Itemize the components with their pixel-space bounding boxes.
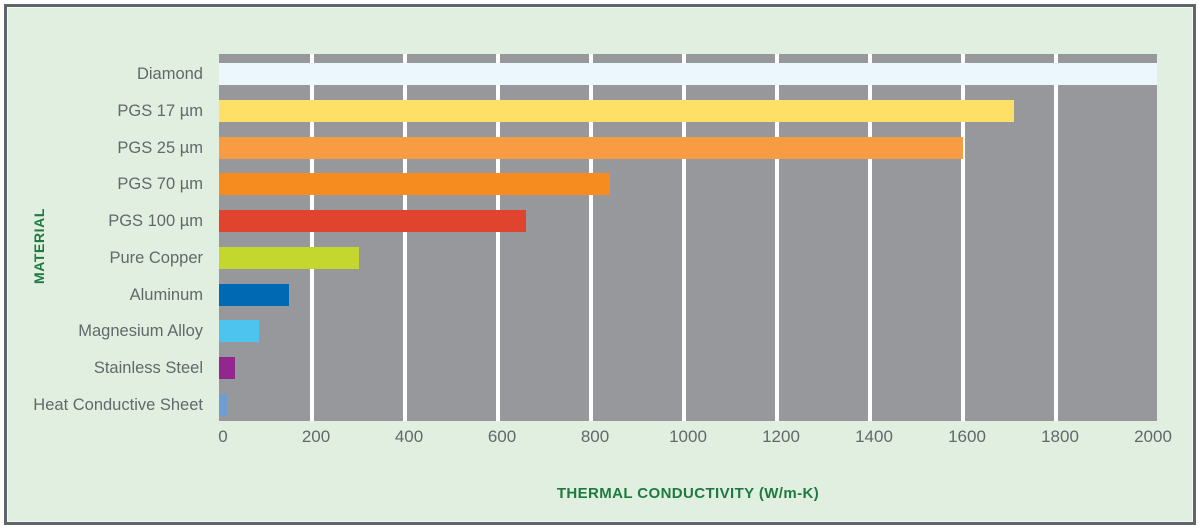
x-tick-label: 1600 xyxy=(948,427,986,447)
bar xyxy=(219,100,1014,122)
x-tick-label: 600 xyxy=(488,427,516,447)
x-tick-label: 1400 xyxy=(855,427,893,447)
x-tick-label: 1800 xyxy=(1041,427,1079,447)
bar xyxy=(219,320,259,342)
plot-area xyxy=(219,54,1157,421)
category-label: PGS 100 µm xyxy=(31,213,203,230)
bar xyxy=(219,357,235,379)
gridline xyxy=(1054,54,1058,421)
x-tick-label: 1200 xyxy=(762,427,800,447)
bar xyxy=(219,137,963,159)
x-tick-label: 800 xyxy=(581,427,609,447)
category-label: Diamond xyxy=(31,66,203,83)
category-label: PGS 25 µm xyxy=(31,140,203,157)
x-tick-label: 400 xyxy=(395,427,423,447)
category-label: Heat Conductive Sheet xyxy=(31,397,203,414)
x-tick-label: 2000 xyxy=(1134,427,1172,447)
x-tick-label: 200 xyxy=(302,427,330,447)
bar xyxy=(219,247,359,269)
category-label-column: DiamondPGS 17 µmPGS 25 µmPGS 70 µmPGS 10… xyxy=(37,54,209,421)
x-axis-tick-labels: 0200400600800100012001400160018002000 xyxy=(7,427,1196,453)
category-label: PGS 17 µm xyxy=(31,103,203,120)
bar xyxy=(219,210,526,232)
x-tick-label: 1000 xyxy=(669,427,707,447)
chart-frame: MATERIAL DiamondPGS 17 µmPGS 25 µmPGS 70… xyxy=(4,4,1196,525)
category-label: Aluminum xyxy=(31,287,203,304)
bar xyxy=(219,394,227,416)
category-label: PGS 70 µm xyxy=(31,176,203,193)
bar xyxy=(219,173,610,195)
x-axis-title: THERMAL CONDUCTIVITY (W/m-K) xyxy=(219,485,1157,502)
bar xyxy=(219,284,289,306)
bar xyxy=(219,63,1157,85)
x-tick-label: 0 xyxy=(218,427,227,447)
category-label: Stainless Steel xyxy=(31,360,203,377)
category-label: Magnesium Alloy xyxy=(31,323,203,340)
category-label: Pure Copper xyxy=(31,250,203,267)
